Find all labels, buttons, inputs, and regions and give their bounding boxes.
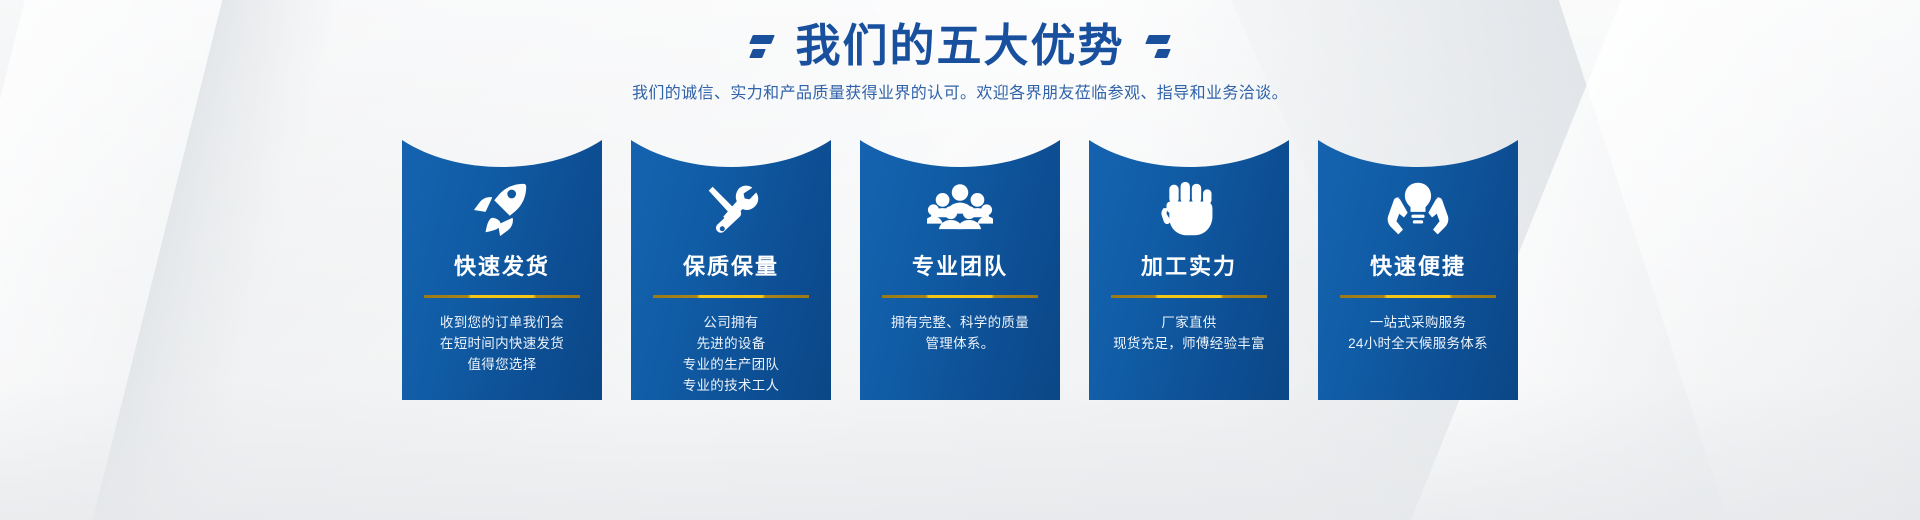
advantage-card-description: 厂家直供 现货充足，师傅经验丰富 bbox=[1097, 312, 1281, 354]
rocket-icon bbox=[402, 178, 602, 240]
page-title: 我们的五大优势 bbox=[795, 20, 1124, 72]
card-divider bbox=[1340, 295, 1496, 298]
left-slash-ornament-icon bbox=[751, 35, 773, 58]
right-slash-ornament-icon bbox=[1147, 35, 1169, 58]
advantage-card-title: 专业团队 bbox=[860, 252, 1060, 282]
advantage-card-list: 快速发货 收到您的订单我们会 在短时间内快速发货 值得您选择 bbox=[0, 140, 1920, 400]
advantages-banner: 我们的五大优势 我们的诚信、实力和产品质量获得业界的认可。欢迎各界朋友莅临参观、… bbox=[0, 0, 1920, 520]
advantage-card[interactable]: 快速便捷 一站式采购服务 24小时全天候服务体系 bbox=[1318, 140, 1518, 400]
card-divider bbox=[424, 295, 580, 298]
card-divider bbox=[882, 295, 1038, 298]
description-line: 现货充足，师傅经验丰富 bbox=[1097, 333, 1281, 354]
people-group-icon bbox=[860, 178, 1060, 240]
description-line: 先进的设备 bbox=[639, 333, 823, 354]
description-line: 值得您选择 bbox=[410, 354, 594, 375]
advantage-card-title: 快速便捷 bbox=[1318, 252, 1518, 282]
wrench-screwdriver-icon bbox=[631, 178, 831, 240]
description-line: 专业的生产团队 bbox=[639, 354, 823, 375]
description-line: 公司拥有 bbox=[639, 312, 823, 333]
advantage-card-title: 加工实力 bbox=[1089, 252, 1289, 282]
description-line: 拥有完整、科学的质量 bbox=[868, 312, 1052, 333]
fist-strength-icon bbox=[1089, 178, 1289, 240]
advantage-card-title: 快速发货 bbox=[402, 252, 602, 282]
advantage-card[interactable]: 加工实力 厂家直供 现货充足，师傅经验丰富 bbox=[1089, 140, 1289, 400]
banner-header: 我们的五大优势 我们的诚信、实力和产品质量获得业界的认可。欢迎各界朋友莅临参观、… bbox=[0, 0, 1920, 105]
description-line: 一站式采购服务 bbox=[1326, 312, 1510, 333]
card-divider bbox=[653, 295, 809, 298]
advantage-card-title: 保质保量 bbox=[631, 252, 831, 282]
hands-lightbulb-icon bbox=[1318, 178, 1518, 240]
description-line: 专业的技术工人 bbox=[639, 375, 823, 396]
description-line: 厂家直供 bbox=[1097, 312, 1281, 333]
advantage-card-description: 一站式采购服务 24小时全天候服务体系 bbox=[1326, 312, 1510, 354]
advantage-card[interactable]: 快速发货 收到您的订单我们会 在短时间内快速发货 值得您选择 bbox=[402, 140, 602, 400]
advantage-card-description: 拥有完整、科学的质量 管理体系。 bbox=[868, 312, 1052, 354]
page-subtitle: 我们的诚信、实力和产品质量获得业界的认可。欢迎各界朋友莅临参观、指导和业务洽谈。 bbox=[0, 83, 1920, 105]
advantage-card-description: 公司拥有 先进的设备 专业的生产团队 专业的技术工人 bbox=[639, 312, 823, 396]
advantage-card[interactable]: 专业团队 拥有完整、科学的质量 管理体系。 bbox=[860, 140, 1060, 400]
description-line: 24小时全天候服务体系 bbox=[1326, 333, 1510, 354]
advantage-card-description: 收到您的订单我们会 在短时间内快速发货 值得您选择 bbox=[410, 312, 594, 375]
card-divider bbox=[1111, 295, 1267, 298]
advantage-card[interactable]: 保质保量 公司拥有 先进的设备 专业的生产团队 专业的技术工人 bbox=[631, 140, 831, 400]
description-line: 收到您的订单我们会 bbox=[410, 312, 594, 333]
description-line: 在短时间内快速发货 bbox=[410, 333, 594, 354]
title-row: 我们的五大优势 bbox=[0, 18, 1920, 74]
description-line: 管理体系。 bbox=[868, 333, 1052, 354]
